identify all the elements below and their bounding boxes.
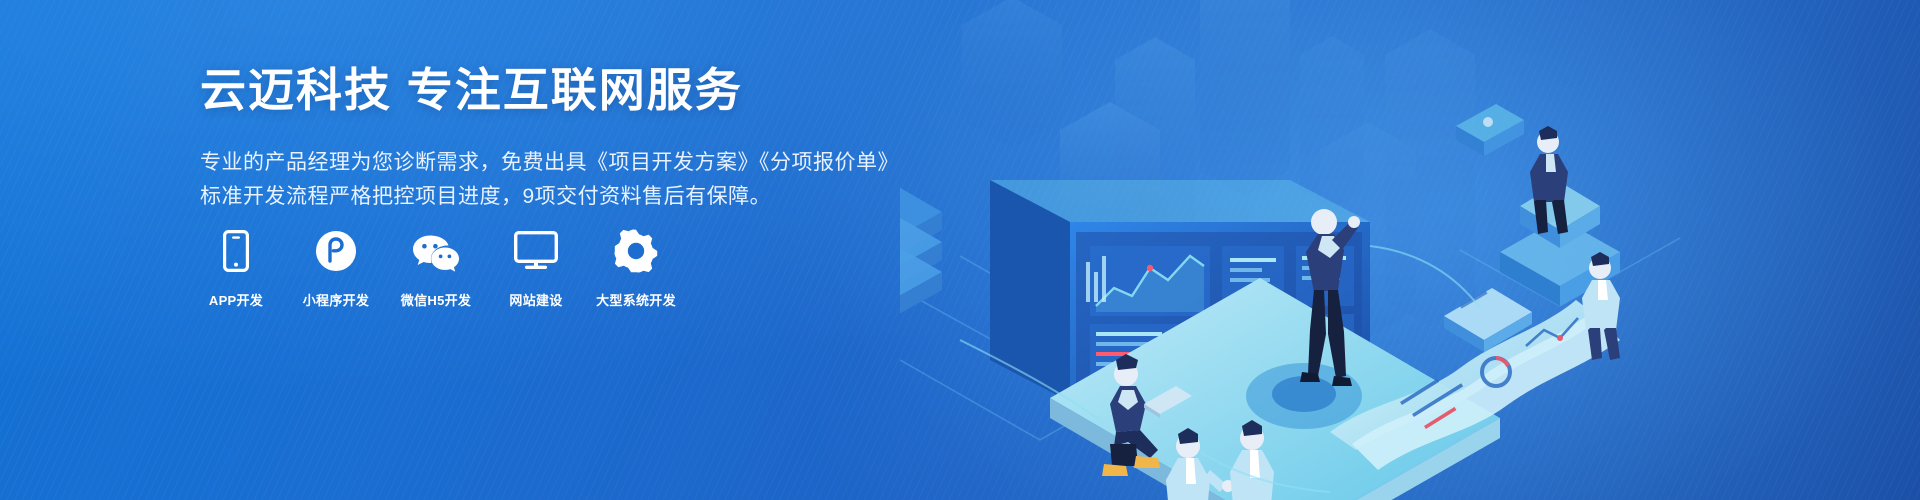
service-item-website[interactable]: 网站建设 xyxy=(500,228,572,309)
service-item-wechat[interactable]: 微信H5开发 xyxy=(400,228,472,309)
mobile-phone-icon xyxy=(223,228,249,274)
miniprogram-icon xyxy=(315,228,357,274)
hero-subtitle: 专业的产品经理为您诊断需求，免费出具《项目开发方案》《分项报价单》 标准开发流程… xyxy=(200,146,920,214)
service-label: 微信H5开发 xyxy=(401,290,471,309)
service-label: 小程序开发 xyxy=(303,290,370,309)
service-item-system[interactable]: 大型系统开发 xyxy=(600,228,672,309)
service-item-app[interactable]: APP开发 xyxy=(200,228,272,309)
service-label: APP开发 xyxy=(209,290,263,309)
service-label: 网站建设 xyxy=(509,290,562,309)
hero-subtitle-line-2: 标准开发流程严格把控项目进度，9项交付资料售后有保障。 xyxy=(200,180,920,214)
isometric-data-dashboard-illustration xyxy=(900,0,1920,500)
monitor-icon xyxy=(514,228,558,274)
hero-copy: 云迈科技 专注互联网服务 专业的产品经理为您诊断需求，免费出具《项目开发方案》《… xyxy=(200,62,920,214)
page-title: 云迈科技 专注互联网服务 xyxy=(200,62,920,120)
service-label: 大型系统开发 xyxy=(596,290,676,309)
service-item-miniprogram[interactable]: 小程序开发 xyxy=(300,228,372,309)
service-list: APP开发 小程序开发 微信 xyxy=(200,228,672,309)
wechat-icon xyxy=(411,228,461,274)
hero-subtitle-line-1: 专业的产品经理为您诊断需求，免费出具《项目开发方案》《分项报价单》 xyxy=(200,146,920,180)
server-stack xyxy=(900,182,942,318)
gear-icon xyxy=(614,228,658,274)
hero-banner: 云迈科技 专注互联网服务 专业的产品经理为您诊断需求，免费出具《项目开发方案》《… xyxy=(0,0,1920,500)
